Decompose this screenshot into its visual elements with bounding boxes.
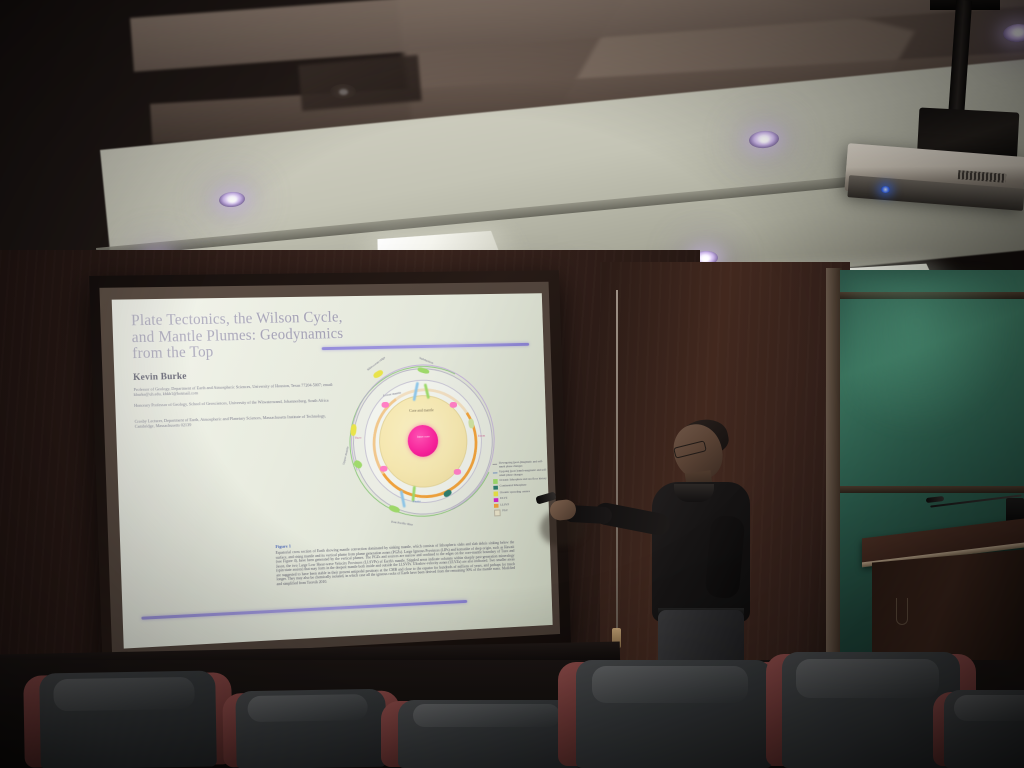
- diagram-annotation: Upper mantle: [342, 446, 350, 465]
- auditorium-seat: [235, 689, 386, 768]
- auditorium-seat: [576, 660, 772, 768]
- legend-label: Oceanic spreading centers: [500, 490, 530, 495]
- legend-swatch: [494, 510, 501, 516]
- legend-swatch: [493, 472, 498, 473]
- legend-swatch: [493, 485, 498, 489]
- diagram-legend: Downgoing (post-)magmatic and self-smelt…: [493, 460, 550, 518]
- slide-affiliation: Professor of Geology, Department of Eart…: [133, 382, 344, 397]
- wall-light-glow: [848, 276, 1018, 436]
- diagram-annotation: East Pacific Rise: [391, 520, 413, 527]
- diagram-annotation: Plume: [413, 499, 421, 503]
- auditorium-seat: [39, 670, 217, 768]
- diagram-pgz-marker: [381, 402, 389, 408]
- diagram-annotation: Tuzo: [355, 436, 362, 440]
- legend-swatch: [494, 498, 499, 502]
- slide-title: Plate Tectonics, the Wilson Cycle, and M…: [131, 310, 359, 363]
- downlight-off-icon: [330, 84, 356, 99]
- collar: [674, 484, 714, 502]
- slide-affiliation: Honorary Professor of Geology, School of…: [134, 397, 345, 408]
- legend-swatch: [494, 504, 499, 508]
- slide-content: Plate Tectonics, the Wilson Cycle, and M…: [112, 293, 553, 648]
- slide-rule-bottom: [141, 600, 467, 619]
- diagram-pgz-marker: [450, 402, 457, 408]
- legend-swatch: [493, 464, 498, 465]
- diagram-pgz-marker: [454, 469, 461, 475]
- legend-label: Oceanic lithosphere and sea-floor histor…: [499, 477, 546, 482]
- legend-item: PGZ: [494, 507, 550, 516]
- projection-screen: Plate Tectonics, the Wilson Cycle, and M…: [89, 270, 571, 675]
- diagram-annotation: Jason: [478, 434, 485, 438]
- figure-caption: Equatorial cross section of Earth showin…: [276, 540, 516, 586]
- legend-swatch: [494, 492, 499, 496]
- slide-author: Kevin Burke: [133, 371, 187, 383]
- figure-number: Figure 1: [275, 543, 291, 549]
- auditorium-seat: [944, 690, 1024, 768]
- left-arm: [704, 515, 745, 600]
- slide-affiliation: Crosby Lecturer, Department of Earth, At…: [135, 413, 346, 429]
- earth-cross-section-diagram: Core and mantle Inner core: [328, 357, 517, 536]
- legend-label: PGZ: [502, 509, 508, 513]
- legend-label: LLSVP: [500, 503, 509, 507]
- legend-label: ULVZ: [500, 497, 508, 501]
- diagram-annotation: Mid-ocean ridge: [366, 355, 386, 371]
- presenter: [612, 424, 762, 692]
- lecture-hall-photo: Plate Tectonics, the Wilson Cycle, and M…: [0, 0, 1024, 768]
- power-led-icon: [881, 186, 890, 193]
- legend-label: Continental lithosphere: [500, 484, 527, 489]
- lectern-hook: [896, 598, 908, 625]
- diagram-pgz-marker: [380, 466, 388, 472]
- legend-swatch: [493, 479, 498, 483]
- auditorium-seat: [398, 700, 582, 768]
